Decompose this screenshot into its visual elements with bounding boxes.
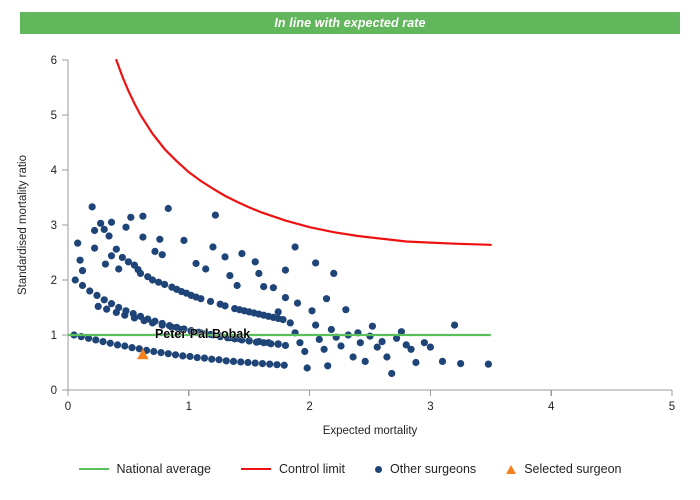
scatter-point[interactable]: [275, 308, 282, 315]
scatter-point[interactable]: [113, 309, 120, 316]
scatter-point[interactable]: [74, 240, 81, 247]
scatter-point[interactable]: [115, 265, 122, 272]
scatter-point[interactable]: [121, 342, 128, 349]
scatter-point[interactable]: [208, 356, 215, 363]
x-tick-label: 5: [669, 401, 675, 413]
scatter-point[interactable]: [121, 312, 128, 319]
line-swatch-icon: [79, 468, 109, 470]
legend-label-national-average: National average: [117, 462, 212, 476]
scatter-point[interactable]: [139, 234, 146, 241]
scatter-point[interactable]: [226, 272, 233, 279]
scatter-point[interactable]: [281, 362, 288, 369]
scatter-point[interactable]: [194, 354, 201, 361]
scatter-point[interactable]: [131, 314, 138, 321]
scatter-point[interactable]: [296, 339, 303, 346]
scatter-point[interactable]: [197, 295, 204, 302]
scatter-point[interactable]: [172, 351, 179, 358]
scatter-point[interactable]: [92, 336, 99, 343]
scatter-point[interactable]: [141, 317, 148, 324]
scatter-point[interactable]: [221, 302, 228, 309]
scatter-point[interactable]: [91, 245, 98, 252]
status-banner-label: In line with expected rate: [274, 16, 425, 30]
scatter-point[interactable]: [103, 306, 110, 313]
y-tick-label: 1: [51, 330, 57, 342]
scatter-point[interactable]: [119, 254, 126, 261]
legend-item-other-surgeons[interactable]: Other surgeons: [375, 462, 476, 476]
scatter-point[interactable]: [287, 319, 294, 326]
scatter-point[interactable]: [150, 348, 157, 355]
control-limit-curve: [116, 60, 490, 245]
scatter-point[interactable]: [156, 236, 163, 243]
dot-swatch-icon: [375, 466, 382, 473]
scatter-point[interactable]: [209, 243, 216, 250]
scatter-point[interactable]: [439, 358, 446, 365]
scatter-point[interactable]: [378, 338, 385, 345]
scatter-point[interactable]: [252, 258, 259, 265]
y-tick-label: 4: [51, 165, 58, 177]
scatter-point[interactable]: [451, 322, 458, 329]
scatter-point[interactable]: [113, 246, 120, 253]
scatter-point[interactable]: [157, 349, 164, 356]
scatter-point[interactable]: [76, 257, 83, 264]
scatter-point[interactable]: [270, 284, 277, 291]
scatter-point[interactable]: [234, 282, 241, 289]
legend-label-other-surgeons: Other surgeons: [390, 462, 476, 476]
scatter-point[interactable]: [323, 295, 330, 302]
scatter-point[interactable]: [330, 270, 337, 277]
x-tick-label: 4: [548, 401, 555, 413]
scatter-point[interactable]: [151, 248, 158, 255]
scatter-point[interactable]: [186, 353, 193, 360]
scatter-point[interactable]: [86, 287, 93, 294]
scatter-point[interactable]: [407, 346, 414, 353]
scatter-point[interactable]: [421, 339, 428, 346]
scatter-point[interactable]: [101, 296, 108, 303]
scatter-point[interactable]: [89, 203, 96, 210]
legend-item-national-average[interactable]: National average: [79, 462, 212, 476]
scatter-point[interactable]: [212, 212, 219, 219]
scatter-point[interactable]: [328, 326, 335, 333]
scatter-point[interactable]: [149, 319, 156, 326]
scatter-point[interactable]: [369, 323, 376, 330]
y-tick-label: 2: [51, 275, 57, 287]
scatter-point[interactable]: [101, 226, 108, 233]
scatter-point[interactable]: [105, 232, 112, 239]
scatter-point[interactable]: [266, 361, 273, 368]
scatter-point[interactable]: [316, 336, 323, 343]
scatter-point[interactable]: [279, 316, 286, 323]
scatter-point[interactable]: [312, 259, 319, 266]
x-tick-label: 3: [427, 401, 433, 413]
scatter-point[interactable]: [294, 300, 301, 307]
scatter-point[interactable]: [485, 361, 492, 368]
scatter-point[interactable]: [95, 303, 102, 310]
scatter-point[interactable]: [255, 270, 262, 277]
scatter-point[interactable]: [321, 346, 328, 353]
y-tick-label: 3: [51, 220, 57, 232]
scatter-point[interactable]: [238, 250, 245, 257]
status-banner: In line with expected rate: [20, 12, 680, 34]
scatter-point[interactable]: [127, 214, 134, 221]
scatter-point[interactable]: [255, 338, 262, 345]
scatter-point[interactable]: [122, 224, 129, 231]
scatter-point[interactable]: [202, 265, 209, 272]
scatter-point[interactable]: [383, 353, 390, 360]
scatter-point[interactable]: [244, 359, 251, 366]
scatter-point[interactable]: [108, 219, 115, 226]
scatter-point[interactable]: [304, 364, 311, 371]
scatter-point[interactable]: [388, 370, 395, 377]
scatter-point[interactable]: [102, 260, 109, 267]
scatter-point[interactable]: [357, 339, 364, 346]
scatter-point[interactable]: [337, 342, 344, 349]
scatter-point[interactable]: [91, 227, 98, 234]
scatter-point[interactable]: [137, 270, 144, 277]
scatter-point[interactable]: [99, 338, 106, 345]
scatter-point[interactable]: [312, 322, 319, 329]
legend-label-selected-surgeon: Selected surgeon: [524, 462, 621, 476]
scatter-point[interactable]: [282, 342, 289, 349]
scatter-point[interactable]: [230, 358, 237, 365]
selected-surgeon-annotation: Peter Pal Bobak: [155, 327, 250, 341]
scatter-point[interactable]: [324, 362, 331, 369]
control-limit-path: [116, 60, 490, 245]
scatter-point[interactable]: [252, 359, 259, 366]
x-axis-ticks: 012345: [65, 390, 675, 413]
y-axis-title: Standardised mortality ratio: [17, 155, 29, 295]
scatter-point[interactable]: [107, 340, 114, 347]
scatter-point[interactable]: [179, 352, 186, 359]
x-tick-label: 1: [186, 401, 192, 413]
triangle-swatch-icon: [506, 465, 516, 474]
scatter-point[interactable]: [349, 353, 356, 360]
scatter-point[interactable]: [201, 355, 208, 362]
scatter-point[interactable]: [427, 344, 434, 351]
scatter-point[interactable]: [259, 360, 266, 367]
scatter-point[interactable]: [128, 344, 135, 351]
y-tick-label: 5: [51, 110, 57, 122]
scatter-point[interactable]: [342, 306, 349, 313]
scatter-point[interactable]: [374, 344, 381, 351]
x-axis-title: Expected mortality: [323, 425, 418, 437]
plot-svg: 0123456 012345 Standardised mortality ra…: [0, 36, 700, 456]
scatter-point[interactable]: [180, 237, 187, 244]
scatter-point[interactable]: [79, 267, 86, 274]
scatter-point[interactable]: [125, 258, 132, 265]
scatter-point[interactable]: [97, 220, 104, 227]
scatter-point[interactable]: [282, 294, 289, 301]
line-swatch-icon: [241, 468, 271, 470]
legend-item-control-limit[interactable]: Control limit: [241, 462, 345, 476]
scatter-point[interactable]: [237, 358, 244, 365]
y-tick-label: 0: [51, 385, 57, 397]
scatter-point[interactable]: [362, 358, 369, 365]
y-tick-label: 6: [51, 55, 57, 67]
scatter-point[interactable]: [165, 350, 172, 357]
other-surgeons-points[interactable]: [70, 203, 492, 377]
y-axis-ticks: 0123456: [51, 55, 68, 397]
scatter-point[interactable]: [457, 360, 464, 367]
scatter-point[interactable]: [72, 276, 79, 283]
scatter-point[interactable]: [215, 356, 222, 363]
scatter-point[interactable]: [93, 292, 100, 299]
x-tick-label: 0: [65, 401, 71, 413]
scatter-point[interactable]: [207, 298, 214, 305]
scatter-point[interactable]: [412, 359, 419, 366]
scatter-point[interactable]: [114, 341, 121, 348]
scatter-point[interactable]: [223, 357, 230, 364]
scatter-point[interactable]: [301, 348, 308, 355]
scatter-point[interactable]: [79, 282, 86, 289]
scatter-point[interactable]: [108, 300, 115, 307]
funnel-plot: 0123456 012345 Standardised mortality ra…: [0, 36, 700, 456]
scatter-point[interactable]: [139, 213, 146, 220]
scatter-point[interactable]: [108, 252, 115, 259]
point-label: Peter Pal Bobak: [155, 327, 250, 341]
scatter-point[interactable]: [275, 340, 282, 347]
scatter-point[interactable]: [273, 361, 280, 368]
scatter-point[interactable]: [221, 253, 228, 260]
scatter-point[interactable]: [161, 281, 168, 288]
scatter-point[interactable]: [292, 243, 299, 250]
scatter-point[interactable]: [165, 205, 172, 212]
chart-page: In line with expected rate 0123456 01234…: [0, 0, 700, 500]
chart-legend: National average Control limit Other sur…: [0, 452, 700, 486]
legend-label-control-limit: Control limit: [279, 462, 345, 476]
scatter-point[interactable]: [282, 267, 289, 274]
scatter-point[interactable]: [265, 339, 272, 346]
scatter-point[interactable]: [260, 283, 267, 290]
legend-item-selected-surgeon[interactable]: Selected surgeon: [506, 462, 621, 476]
scatter-point[interactable]: [308, 307, 315, 314]
scatter-point[interactable]: [192, 260, 199, 267]
scatter-point[interactable]: [159, 251, 166, 258]
x-tick-label: 2: [306, 401, 312, 413]
